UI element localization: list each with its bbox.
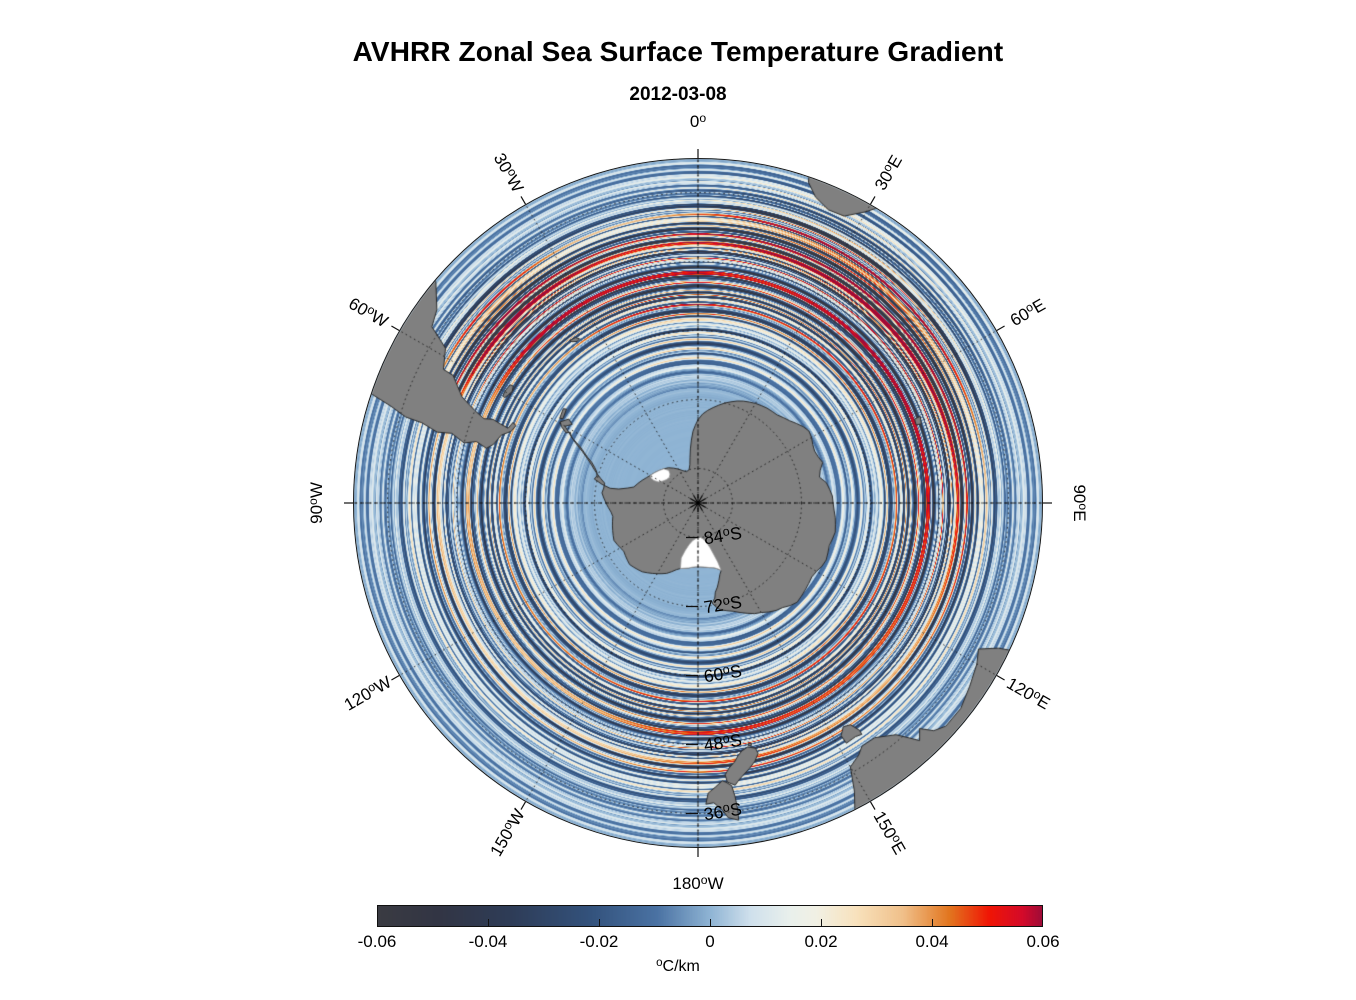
colorbar-tick-labels: -0.06-0.04-0.0200.020.040.06	[0, 932, 1356, 956]
colorbar-tick-label: -0.02	[580, 932, 619, 952]
colorbar-unit-label: oC/km	[0, 958, 1356, 976]
colorbar-gradient	[377, 905, 1043, 927]
longitude-label: 0o	[690, 112, 706, 132]
figure-subtitle: 2012-03-08	[0, 84, 1356, 106]
page-title: AVHRR Zonal Sea Surface Temperature Grad…	[0, 36, 1356, 68]
longitude-label: 180oW	[672, 874, 723, 894]
colorbar-tick-label: 0.04	[915, 932, 948, 952]
longitude-label: 90oE	[1069, 484, 1089, 521]
colorbar-tick-label: -0.06	[358, 932, 397, 952]
sst-gradient-heatmap	[353, 158, 1043, 848]
figure-root: AVHRR Zonal Sea Surface Temperature Grad…	[0, 0, 1356, 1000]
longitude-label: 90oW	[307, 482, 327, 524]
colorbar[interactable]	[377, 905, 1043, 927]
colorbar-tick-label: 0.06	[1026, 932, 1059, 952]
colorbar-tick-label: -0.04	[469, 932, 508, 952]
colorbar-tick-label: 0	[705, 932, 714, 952]
polar-map[interactable]	[353, 158, 1043, 848]
colorbar-tick-label: 0.02	[804, 932, 837, 952]
